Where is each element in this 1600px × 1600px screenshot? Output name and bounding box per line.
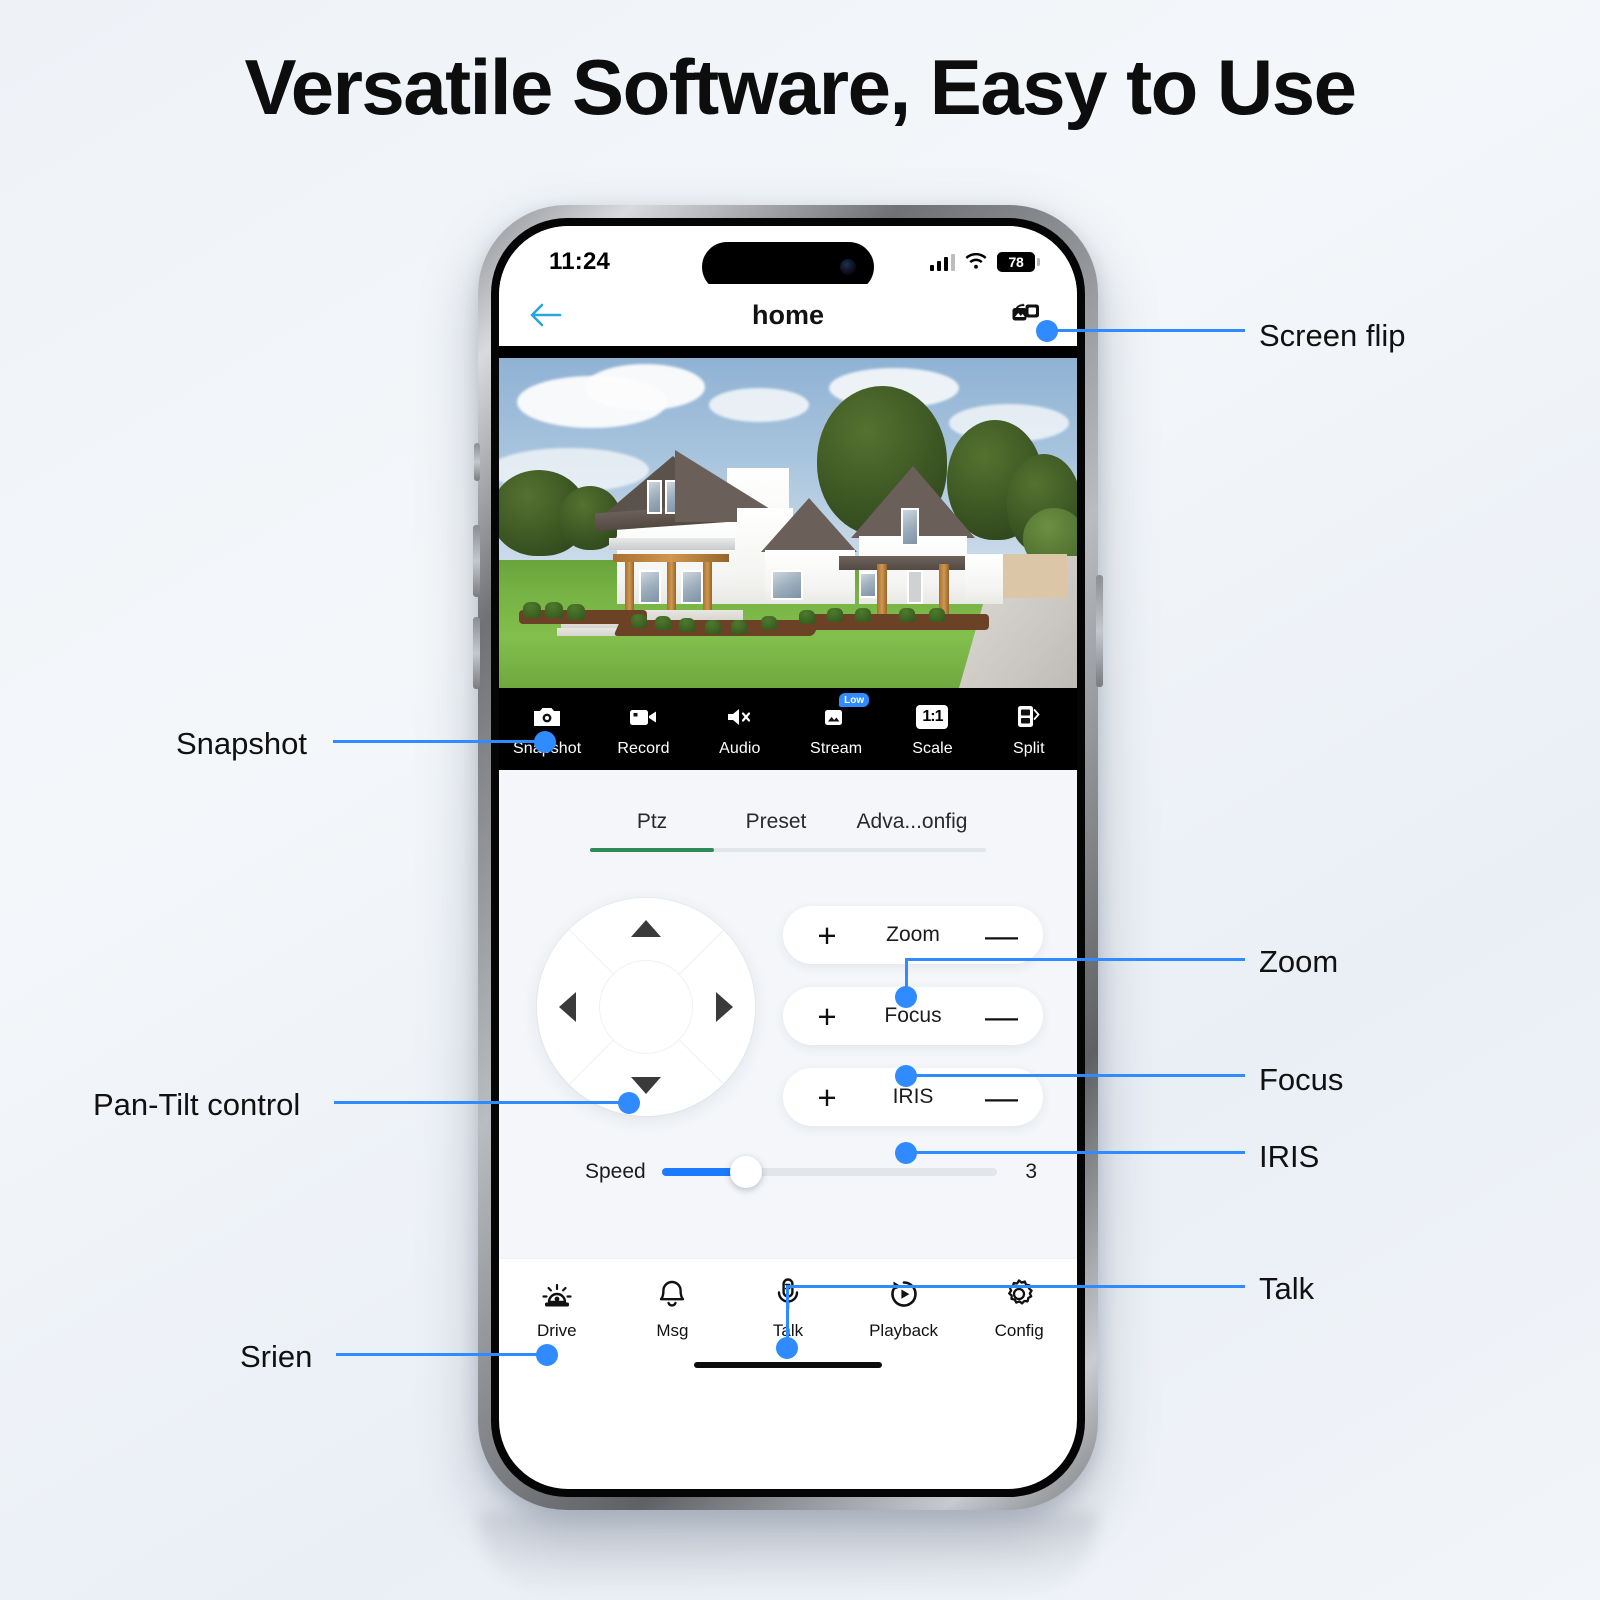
nav-item-playback[interactable]: Playback (854, 1273, 954, 1341)
zoom-label: Zoom (886, 923, 940, 947)
video-toolbar: Snapshot Record (499, 688, 1077, 770)
anno-line-snapshot (333, 740, 538, 743)
camera-icon (532, 702, 562, 732)
stream-badge: Low (839, 693, 869, 707)
anno-label-snapshot: Snapshot (176, 726, 307, 762)
tab-ptz[interactable]: Ptz (590, 810, 714, 848)
toolbar-label: Audio (719, 740, 760, 758)
toolbar-label: Record (617, 740, 669, 758)
silent-switch[interactable] (474, 443, 480, 481)
status-indicators: 78 (930, 252, 1036, 272)
status-bar: 11:24 78 (499, 226, 1077, 284)
iris-minus-button[interactable]: — (985, 1081, 1013, 1114)
nav-item-drive[interactable]: Drive (507, 1273, 607, 1341)
tab-preset[interactable]: Preset (714, 810, 838, 848)
anno-vline-talk (786, 1285, 789, 1343)
ptz-tabs: Ptz Preset Adva...onfig (499, 770, 1077, 848)
anno-vline-zoom (905, 958, 908, 990)
back-arrow-icon[interactable] (525, 294, 567, 336)
gear-icon (1001, 1273, 1037, 1315)
status-time: 11:24 (549, 248, 610, 276)
page-header-title: home (499, 300, 1077, 331)
screen-flip-icon[interactable] (1005, 294, 1047, 336)
pan-tilt-dpad[interactable] (537, 898, 755, 1116)
nav-label: Playback (869, 1321, 938, 1341)
toolbar-item-stream[interactable]: Low Stream (792, 702, 880, 758)
toolbar-label: Stream (810, 740, 862, 758)
camera-preview[interactable] (499, 358, 1077, 688)
arrow-right-icon[interactable] (716, 992, 733, 1022)
arrow-up-icon[interactable] (631, 920, 661, 937)
stream-icon: Low (821, 702, 851, 732)
anno-line-screen-flip (1047, 329, 1245, 332)
speed-slider-knob[interactable] (730, 1156, 762, 1188)
tab-advanced-config[interactable]: Adva...onfig (838, 810, 986, 848)
tab-indicator-track (590, 848, 986, 852)
speed-label: Speed (585, 1160, 646, 1184)
speaker-mute-icon (725, 702, 755, 732)
speed-row: Speed 3 (499, 1126, 1077, 1184)
home-indicator[interactable] (694, 1362, 882, 1368)
wifi-icon (964, 253, 988, 271)
arrow-down-icon[interactable] (631, 1077, 661, 1094)
siren-icon (538, 1273, 576, 1315)
split-screen-icon (1015, 702, 1043, 732)
anno-line-pan-tilt (334, 1101, 626, 1104)
zoom-control[interactable]: + Zoom — (783, 906, 1043, 964)
iris-label: IRIS (893, 1085, 934, 1109)
anno-label-srien: Srien (240, 1339, 312, 1375)
toolbar-item-scale[interactable]: 1:1 Scale (888, 702, 976, 758)
focus-plus-button[interactable]: + (813, 1000, 841, 1033)
lens-controls: + Zoom — + Focus — + IRIS (775, 898, 1043, 1126)
ptz-controls: + Zoom — + Focus — + IRIS (499, 852, 1077, 1126)
video-area: Snapshot Record (499, 346, 1077, 770)
anno-label-focus: Focus (1259, 1062, 1343, 1098)
toolbar-item-split[interactable]: Split (985, 702, 1073, 758)
one-to-one-icon: 1:1 (916, 702, 948, 732)
dpad-center-button[interactable] (600, 961, 692, 1053)
playback-icon (886, 1273, 922, 1315)
battery-icon: 78 (997, 252, 1035, 272)
toolbar-item-record[interactable]: Record (599, 702, 687, 758)
nav-label: Msg (656, 1321, 688, 1341)
anno-label-screen-flip: Screen flip (1259, 318, 1405, 354)
tab-indicator-active (590, 848, 714, 852)
zoom-plus-button[interactable]: + (813, 919, 841, 952)
volume-down-button[interactable] (473, 617, 480, 689)
zoom-minus-button[interactable]: — (985, 919, 1013, 952)
anno-line-srien (336, 1353, 542, 1356)
battery-level: 78 (1009, 254, 1024, 270)
focus-label: Focus (884, 1004, 941, 1028)
toolbar-label: Split (1013, 740, 1045, 758)
bell-icon (655, 1273, 689, 1315)
video-camera-icon (628, 702, 658, 732)
toolbar-label: Scale (912, 740, 953, 758)
anno-line-iris (905, 1151, 1245, 1154)
focus-minus-button[interactable]: — (985, 1000, 1013, 1033)
nav-label: Drive (537, 1321, 577, 1341)
anno-label-iris: IRIS (1259, 1139, 1319, 1175)
phone-reflection (478, 1512, 1098, 1600)
volume-up-button[interactable] (473, 525, 480, 597)
cellular-bars-icon (930, 254, 956, 271)
anno-line-focus (905, 1074, 1245, 1077)
anno-line-talk (786, 1285, 1245, 1288)
nav-item-config[interactable]: Config (969, 1273, 1069, 1341)
nav-label: Config (995, 1321, 1044, 1341)
arrow-left-icon[interactable] (559, 992, 576, 1022)
app-bar: home (499, 284, 1077, 346)
page-title: Versatile Software, Easy to Use (0, 42, 1600, 133)
iris-plus-button[interactable]: + (813, 1081, 841, 1114)
toolbar-item-audio[interactable]: Audio (696, 702, 784, 758)
anno-label-zoom: Zoom (1259, 944, 1338, 980)
speed-value: 3 (1013, 1160, 1037, 1184)
speed-slider[interactable] (662, 1168, 997, 1176)
anno-line-zoom (905, 958, 1245, 961)
nav-item-msg[interactable]: Msg (622, 1273, 722, 1341)
anno-label-talk: Talk (1259, 1271, 1314, 1307)
anno-label-pan-tilt: Pan-Tilt control (93, 1087, 300, 1123)
power-button[interactable] (1096, 575, 1103, 687)
